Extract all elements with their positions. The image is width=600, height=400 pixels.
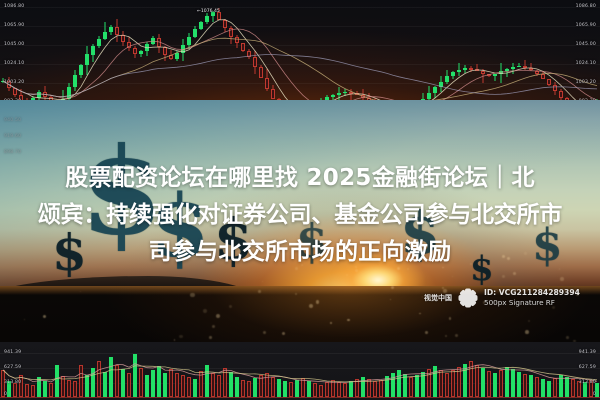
candlestick	[463, 65, 467, 73]
volume-axis-label-right: 313.80	[579, 380, 596, 385]
volume-bar	[379, 380, 382, 397]
bokeh-dot	[282, 332, 285, 335]
bokeh-dot	[258, 290, 261, 293]
volume-bar	[253, 378, 256, 397]
gridline	[0, 83, 600, 84]
candlestick	[457, 63, 461, 76]
volume-bar	[337, 382, 340, 397]
candlestick	[475, 64, 479, 72]
price-axis-label-left: 1065.90	[4, 23, 24, 28]
candlestick	[73, 70, 77, 90]
headline-line-2: 颂宾：持续强化对证券公司、基金公司参与北交所市	[0, 197, 600, 234]
volume-bar	[475, 365, 478, 397]
candlestick	[553, 82, 557, 95]
volume-bar	[169, 369, 172, 397]
watermark-text: ID: VCG211284289394 500px Signature RF	[484, 288, 580, 308]
volume-bar	[403, 374, 406, 397]
volume-bar	[115, 365, 118, 397]
volume-bar	[271, 377, 274, 397]
volume-bar	[319, 385, 322, 397]
volume-bar	[535, 377, 538, 397]
screenshot-root: 1086.80 1065.90 1045.00 1024.10 1003.20 …	[0, 0, 600, 400]
candlestick	[523, 60, 527, 70]
candlestick	[103, 22, 107, 40]
volume-bar	[247, 381, 250, 397]
volume-bar	[205, 365, 208, 397]
bokeh-dot	[560, 277, 564, 281]
watermark-license: 500px Signature RF	[484, 298, 580, 308]
volume-bar	[451, 370, 454, 397]
bokeh-dot	[203, 309, 207, 313]
volume-bar	[463, 364, 466, 397]
volume-bar	[445, 373, 448, 397]
volume-bar	[133, 354, 136, 397]
volume-bar	[325, 382, 328, 397]
volume-bar	[265, 373, 268, 397]
volume-bar	[433, 366, 436, 397]
bokeh-dot	[419, 313, 420, 314]
candlestick	[241, 43, 245, 52]
candlestick	[13, 88, 17, 97]
volume-chart-panel: 941.39 627.59 313.80 0 941.39 627.59 313…	[0, 342, 600, 400]
candlestick	[181, 39, 185, 62]
volume-bar	[343, 383, 346, 397]
candlestick	[271, 85, 275, 99]
volume-bar	[79, 365, 82, 397]
candlestick	[253, 51, 257, 75]
price-axis-label-right: 1086.80	[576, 4, 596, 9]
volume-bar	[19, 375, 22, 397]
candlestick	[445, 70, 449, 85]
candlestick	[493, 74, 497, 81]
volume-bar	[349, 381, 352, 397]
volume-bar	[355, 379, 358, 397]
candlestick	[97, 36, 101, 49]
bokeh-dot	[513, 272, 516, 275]
volume-bar	[439, 370, 442, 397]
volume-bar	[175, 373, 178, 397]
candlestick	[439, 76, 443, 92]
volume-bar	[211, 373, 214, 397]
volume-bar	[313, 383, 316, 397]
candlestick	[559, 89, 563, 101]
volume-bar	[49, 383, 52, 397]
bokeh-dot	[390, 299, 391, 300]
volume-bar	[283, 381, 286, 397]
volume-bar	[487, 371, 490, 397]
volume-bar	[139, 368, 142, 397]
volume-bar	[97, 361, 100, 397]
bokeh-dot	[209, 336, 211, 338]
volume-bar	[553, 378, 556, 397]
volume-bar	[163, 373, 166, 397]
candlestick	[481, 69, 485, 82]
candlestick	[133, 46, 137, 59]
volume-bar	[517, 372, 520, 398]
volume-bar	[469, 361, 472, 397]
volume-bar	[505, 367, 508, 397]
volume-bar	[289, 382, 292, 397]
gridline	[0, 7, 600, 8]
candlestick	[499, 63, 503, 83]
candlestick	[157, 34, 161, 54]
watermark-brand: 视觉中国	[424, 293, 452, 303]
candlestick	[259, 65, 263, 78]
price-axis-label-right: 1003.20	[576, 80, 596, 85]
price-peak-annotation: ←1076.45	[197, 9, 220, 14]
bokeh-dot	[330, 322, 331, 323]
volume-bar	[13, 383, 16, 397]
bokeh-dot	[212, 325, 215, 328]
volume-axis-label-left: 627.59	[4, 365, 21, 370]
volume-bar	[295, 380, 298, 397]
volume-bar	[361, 377, 364, 397]
price-axis-label-right: 1045.00	[576, 42, 596, 47]
candlestick	[175, 51, 179, 61]
volume-bar	[157, 366, 160, 397]
candlestick	[451, 71, 455, 79]
volume-axis-label-right: 0	[593, 392, 596, 397]
candlestick	[265, 69, 269, 91]
gridline	[0, 368, 600, 369]
bokeh-dot	[425, 331, 428, 334]
candlestick	[109, 25, 113, 35]
volume-bar	[61, 376, 64, 397]
volume-bar	[523, 374, 526, 397]
candlestick	[355, 91, 359, 95]
price-axis-label-left: 1024.10	[4, 61, 24, 66]
volume-bar	[277, 379, 280, 397]
volume-bar	[103, 372, 106, 397]
volume-bar	[397, 370, 400, 397]
volume-bar	[367, 379, 370, 397]
volume-bar	[301, 378, 304, 397]
candlestick	[163, 46, 167, 61]
price-axis-label-faded: 919.60	[4, 134, 21, 139]
candlestick	[247, 49, 251, 59]
volume-bar	[235, 377, 238, 397]
volume-bar	[559, 375, 562, 397]
candlestick	[169, 50, 173, 60]
candlestick	[145, 42, 149, 55]
bokeh-dot	[445, 335, 447, 337]
gridline	[0, 26, 600, 27]
candlestick	[433, 86, 437, 98]
candlestick	[121, 31, 125, 46]
headline-line-1: 股票配资论坛在哪里找 2025金融街论坛｜北	[0, 160, 600, 197]
volume-bar	[481, 368, 484, 397]
price-axis-label-faded: 898.70	[4, 150, 21, 155]
volume-bar	[499, 370, 502, 397]
gridline	[0, 45, 600, 46]
volume-bar	[199, 371, 202, 397]
candlestick	[541, 71, 545, 79]
volume-bar	[415, 375, 418, 397]
candlestick	[223, 19, 227, 31]
volume-axis-label-right: 627.59	[579, 365, 596, 370]
volume-bar	[541, 379, 544, 397]
price-axis-label-right: 1065.90	[576, 23, 596, 28]
volume-axis-label-left: 0	[4, 392, 7, 397]
starburst-icon	[456, 286, 480, 310]
volume-bar	[331, 380, 334, 397]
candlestick	[229, 26, 233, 44]
watermark: 视觉中国 ID: VCG211284289394 500px Signature…	[424, 286, 580, 310]
volume-bar	[385, 376, 388, 397]
volume-bar	[193, 379, 196, 397]
volume-bar	[571, 379, 574, 397]
headline-overlay: 股票配资论坛在哪里找 2025金融街论坛｜北 颂宾：持续强化对证券公司、基金公司…	[0, 160, 600, 271]
candlestick	[139, 50, 143, 57]
bokeh-dot	[263, 331, 266, 334]
candlestick	[187, 33, 191, 49]
candlestick	[343, 89, 347, 96]
volume-bar	[259, 375, 262, 397]
gridline	[0, 64, 600, 65]
price-axis-label-left: 1086.80	[4, 4, 24, 9]
volume-moving-average	[0, 342, 600, 400]
candlestick	[505, 68, 509, 77]
volume-bar	[31, 385, 34, 397]
volume-bar	[223, 368, 226, 397]
candlestick	[127, 37, 131, 51]
volume-bar	[427, 369, 430, 397]
volume-bar	[229, 372, 232, 397]
volume-bar	[121, 369, 124, 397]
volume-bar	[127, 373, 130, 397]
volume-bar	[43, 381, 46, 397]
volume-baseline	[0, 397, 600, 398]
headline-line-3: 司参与北交所市场的正向激励	[0, 234, 600, 271]
volume-bar	[217, 375, 220, 397]
candlestick	[79, 64, 83, 77]
volume-bar	[67, 380, 70, 397]
candlestick	[487, 74, 491, 77]
candlestick	[517, 63, 521, 67]
candlestick	[85, 46, 89, 76]
price-axis-label-right: 1024.10	[576, 61, 596, 66]
candlestick	[115, 19, 119, 42]
volume-bar	[421, 372, 424, 397]
volume-bar	[511, 369, 514, 397]
volume-bar	[109, 357, 112, 397]
price-axis-label-left: 1045.00	[4, 42, 24, 47]
volume-bar	[493, 373, 496, 397]
volume-bar	[565, 377, 568, 397]
volume-bar	[457, 367, 460, 397]
volume-bar	[409, 377, 412, 397]
price-axis-label-left: 1003.20	[4, 80, 24, 85]
candlestick	[151, 36, 155, 45]
candlestick	[535, 70, 539, 76]
watermark-id: ID: VCG211284289394	[484, 288, 580, 298]
candlestick	[547, 79, 551, 86]
candlestick	[193, 26, 197, 38]
volume-bar	[85, 375, 88, 397]
volume-axis-label-left: 941.39	[4, 350, 21, 355]
ma-line	[3, 20, 597, 113]
price-axis-label-faded: 940.50	[4, 118, 21, 123]
volume-bar	[73, 381, 76, 397]
volume-bar	[151, 370, 154, 397]
volume-bar	[55, 365, 58, 397]
candlestick	[511, 63, 515, 74]
volume-bar	[241, 380, 244, 397]
bokeh-dot	[525, 330, 529, 334]
volume-bar	[25, 384, 28, 397]
volume-axis-label-right: 941.39	[579, 350, 596, 355]
candlestick	[205, 13, 209, 25]
bokeh-dot	[566, 336, 569, 339]
gridline	[0, 353, 600, 354]
volume-bar	[37, 377, 40, 397]
volume-bar	[391, 373, 394, 397]
volume-bar	[307, 381, 310, 397]
candlestick	[469, 66, 473, 72]
volume-bar	[187, 377, 190, 397]
volume-axis-label-left: 313.80	[4, 380, 21, 385]
gridline	[0, 383, 600, 384]
volume-bar	[373, 381, 376, 397]
volume-bar	[529, 375, 532, 397]
candlestick	[199, 21, 203, 30]
candlestick	[529, 63, 533, 71]
volume-bar	[181, 375, 184, 397]
volume-bar	[145, 375, 148, 397]
volume-bar	[91, 368, 94, 397]
candlestick	[235, 35, 239, 48]
candlestick	[91, 44, 95, 62]
volume-bar	[547, 381, 550, 397]
